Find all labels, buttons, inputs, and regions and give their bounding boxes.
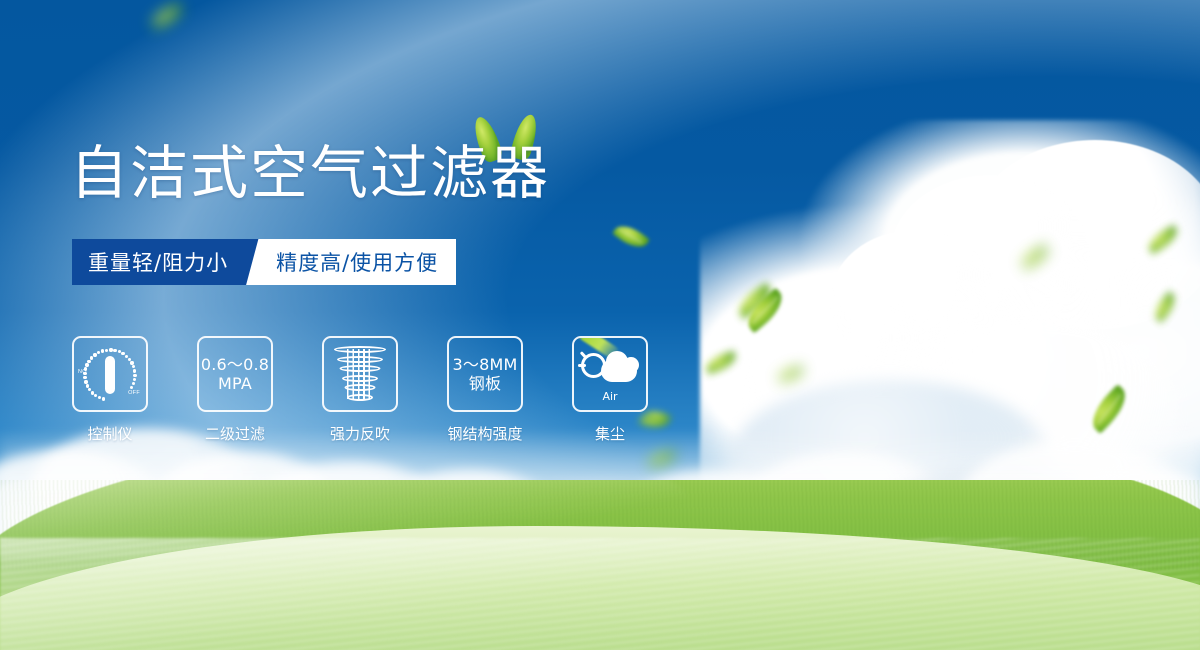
- feature-item-dust-collection[interactable]: Air 集尘: [572, 336, 648, 444]
- leaf-decoration: [1084, 384, 1133, 434]
- feature-label: 强力反吹: [330, 423, 390, 444]
- gauge-label-off: OFF: [128, 390, 140, 396]
- filter-ring: [342, 375, 378, 382]
- gauge-tick: [132, 382, 135, 385]
- feature-icon-box: NO OFF: [72, 336, 148, 412]
- gauge-tick: [133, 378, 136, 381]
- gauge-tick: [101, 349, 104, 352]
- gauge-tick: [87, 360, 90, 363]
- product-banner: 自洁式空气过滤器 重量轻/阻力小 精度高/使用方便 NO OFF 控制仪 0.6…: [0, 0, 1200, 650]
- filter-rings-icon: [332, 344, 388, 404]
- leaf-decoration: [703, 350, 738, 374]
- gauge-tick: [85, 363, 88, 366]
- gauge-tick: [133, 374, 136, 377]
- sun-ray: [580, 351, 588, 359]
- gauge-tick: [109, 348, 112, 351]
- subtitle-divider: [246, 239, 268, 285]
- gauge-tick: [83, 372, 86, 375]
- leaf-decoration: [148, 2, 186, 30]
- cloud-puff: [890, 175, 1090, 335]
- gauge-tick: [83, 376, 86, 379]
- gauge-tick: [102, 397, 105, 400]
- sun-ray: [578, 364, 586, 367]
- feature-icon-box: [322, 336, 398, 412]
- feature-label: 集尘: [595, 423, 625, 444]
- leaf-decoration: [1150, 291, 1180, 323]
- feature-item-backwash[interactable]: 强力反吹: [322, 336, 398, 444]
- cloud-puff: [900, 320, 1180, 500]
- leaf-decoration: [777, 365, 805, 382]
- feature-icon-box: 0.6～0.8 MPA: [197, 336, 273, 412]
- feature-label: 控制仪: [87, 423, 132, 444]
- page-title: 自洁式空气过滤器: [70, 143, 550, 204]
- cloud-puff: [830, 230, 1000, 370]
- gauge-tick: [132, 365, 135, 368]
- filter-ring: [337, 356, 383, 363]
- leaf-vein: [1097, 394, 1121, 425]
- feature-icon-box: Air: [572, 336, 648, 412]
- pressure-text-icon: 0.6～0.8 MPA: [201, 355, 269, 393]
- leaf-decoration: [1018, 244, 1051, 270]
- gauge-tick: [130, 361, 133, 364]
- feature-label: 二级过滤: [205, 423, 265, 444]
- steel-thickness: 3～8MM: [453, 355, 518, 374]
- gauge-tick: [91, 391, 94, 394]
- cloud-air-icon: Air: [579, 349, 641, 399]
- subtitle-segment-left: 重量轻/阻力小: [72, 239, 246, 285]
- field-path: [0, 538, 1200, 650]
- pressure-unit: MPA: [201, 374, 269, 393]
- cloud-bump: [623, 357, 639, 373]
- air-label: Air: [579, 390, 641, 403]
- gauge-tick: [98, 396, 101, 399]
- gauge-tick: [105, 349, 108, 352]
- feature-item-two-stage-filter[interactable]: 0.6～0.8 MPA 二级过滤: [197, 336, 273, 444]
- subtitle-segment-right: 精度高/使用方便: [268, 239, 456, 285]
- filter-ring: [345, 384, 376, 391]
- filter-ring: [347, 394, 373, 401]
- leaf-decoration: [1145, 225, 1182, 255]
- gauge-tick: [84, 380, 87, 383]
- pressure-range: 0.6～0.8: [201, 355, 269, 374]
- gauge-tick: [130, 386, 133, 389]
- feature-item-controller[interactable]: NO OFF 控制仪: [72, 336, 148, 444]
- leaf-vein: [619, 229, 643, 243]
- gauge-tick: [94, 394, 97, 397]
- steel-material: 钢板: [453, 374, 518, 393]
- gauge-tick: [97, 351, 100, 354]
- leaf-decoration: [647, 450, 677, 467]
- feature-icon-box: 3～8MM 钢板: [447, 336, 523, 412]
- feature-list: NO OFF 控制仪 0.6～0.8 MPA 二级过滤 强: [72, 336, 648, 444]
- leaf-decoration: [612, 220, 649, 254]
- feature-item-steel-strength[interactable]: 3～8MM 钢板 钢结构强度: [447, 336, 523, 444]
- gauge-tick: [86, 384, 89, 387]
- subtitle-bar: 重量轻/阻力小 精度高/使用方便: [72, 239, 456, 285]
- gauge-tick: [113, 349, 116, 352]
- feature-label: 钢结构强度: [447, 423, 522, 444]
- cumulus-cloud-right: [700, 120, 1200, 520]
- gauge-tick: [133, 369, 136, 372]
- gauge-tick: [93, 353, 96, 356]
- gauge-icon: NO OFF: [78, 342, 142, 406]
- filter-ring: [340, 365, 381, 372]
- steel-plate-text-icon: 3～8MM 钢板: [453, 355, 518, 393]
- filter-ring: [334, 346, 386, 353]
- gauge-needle: [105, 356, 115, 394]
- grass-field: [0, 480, 1200, 650]
